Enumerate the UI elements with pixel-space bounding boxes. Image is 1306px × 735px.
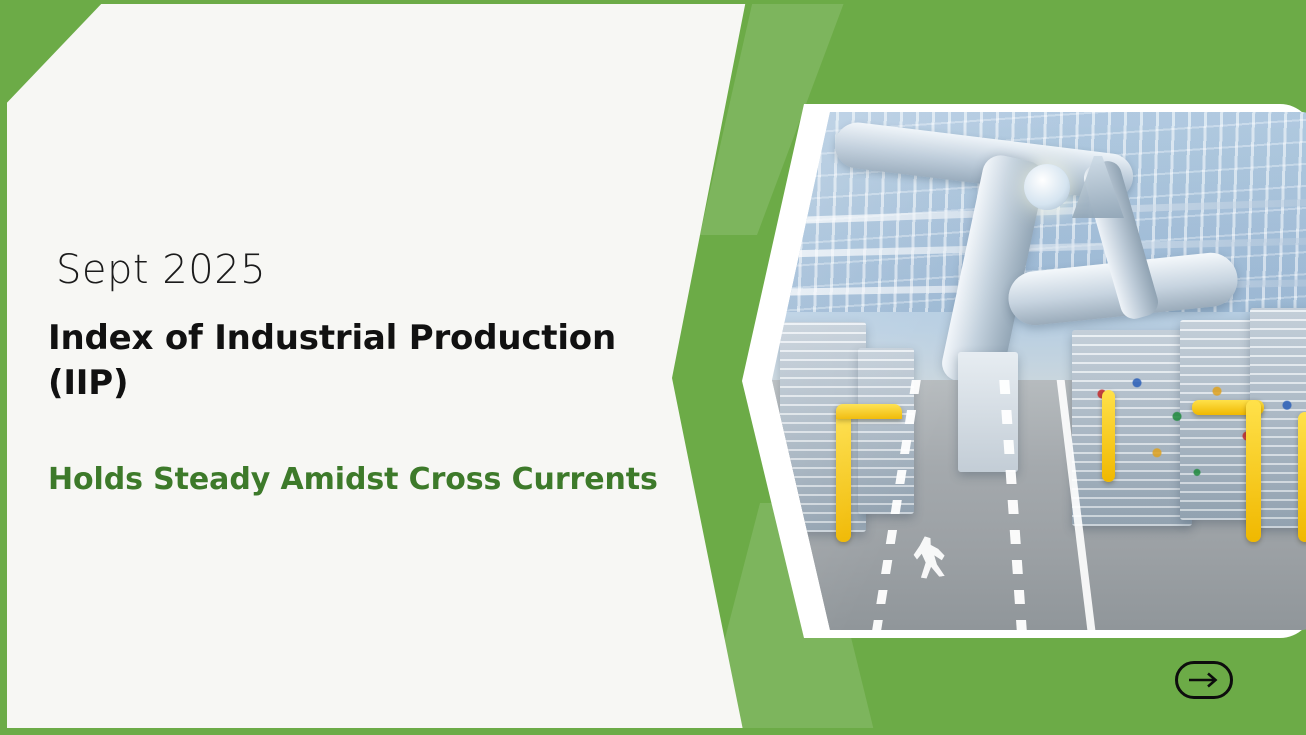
safety-rail	[836, 404, 902, 419]
page-subtitle: Holds Steady Amidst Cross Currents	[48, 462, 688, 498]
title-block: Sept 2025 Index of Industrial Production…	[48, 248, 688, 498]
safety-rail	[1102, 390, 1115, 482]
arrow-right-icon	[1188, 672, 1220, 688]
ceiling-lamp	[1024, 164, 1070, 210]
safety-rail	[1298, 412, 1306, 542]
slide-root: Sept 2025 Index of Industrial Production…	[0, 0, 1306, 735]
next-slide-button[interactable]	[1175, 661, 1233, 699]
frame-edge-top	[0, 0, 1306, 4]
frame-edge-bottom	[0, 728, 1306, 735]
factory-photo	[772, 112, 1306, 630]
photo-container	[772, 112, 1306, 630]
page-title: Index of Industrial Production (IIP)	[48, 316, 668, 406]
safety-rail	[836, 404, 851, 542]
corner-round-decoration	[0, 108, 120, 228]
date-eyebrow: Sept 2025	[48, 248, 688, 292]
safety-rail	[1246, 400, 1261, 542]
frame-edge-left	[0, 0, 7, 735]
